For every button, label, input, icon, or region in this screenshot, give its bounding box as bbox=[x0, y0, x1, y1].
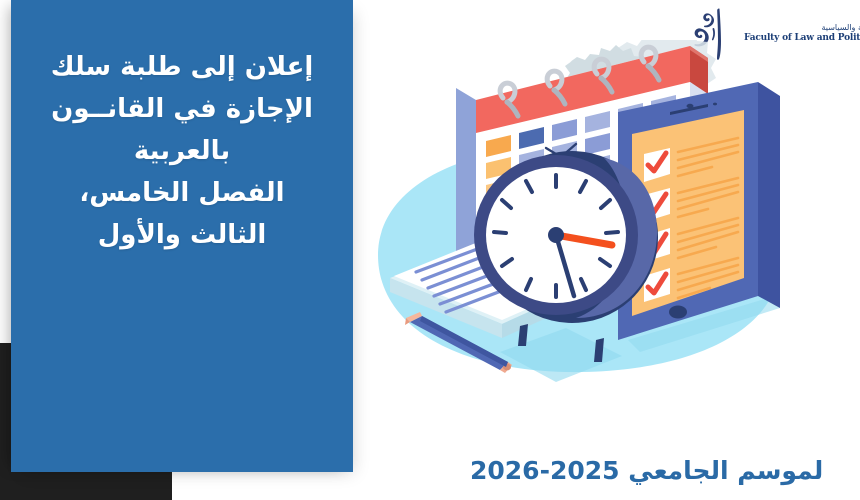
academic-year-label: لموسم الجامعي 2025-2026 bbox=[470, 456, 823, 485]
headline-line-3: بالعربية bbox=[134, 130, 230, 172]
headline-line-2: الإجازة في القانــون bbox=[51, 88, 313, 130]
poster-canvas: إعلان إلى طلبة سلك الإجازة في القانــون … bbox=[0, 0, 860, 500]
footer-academic-year: لموسم الجامعي 2025-2026 bbox=[470, 448, 860, 492]
headline-line-1: إعلان إلى طلبة سلك bbox=[51, 46, 314, 88]
headline-block: إعلان إلى طلبة سلك الإجازة في القانــون … bbox=[11, 0, 353, 472]
headline-line-5: الثالث والأول bbox=[98, 214, 267, 256]
faculty-name-arabic: كلية العلوم القانونية والسياسية bbox=[744, 24, 860, 33]
deadline-illustration bbox=[360, 40, 800, 420]
deadline-illustration-svg bbox=[360, 40, 800, 420]
headline-panel: إعلان إلى طلبة سلك الإجازة في القانــون … bbox=[11, 0, 353, 472]
headline-line-4: الفصل الخامس، bbox=[79, 172, 284, 214]
